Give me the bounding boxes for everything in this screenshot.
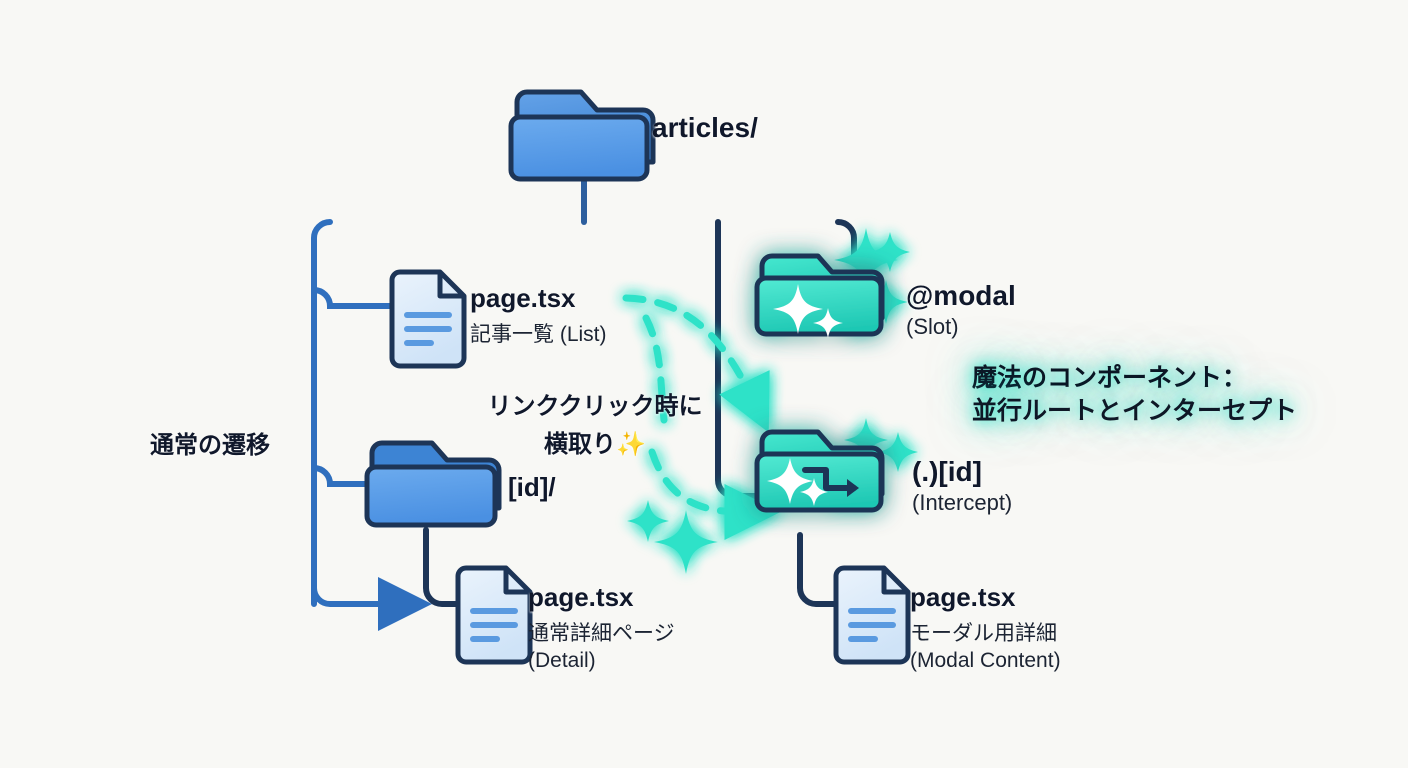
file-icon-list-page[interactable] (392, 272, 464, 366)
label-list-page-group: page.tsx 記事一覧 (List) (470, 283, 607, 348)
annotation-intercept-note-line2-wrap: 横取り✨ (480, 424, 710, 459)
label-id-folder: [id]/ (508, 472, 556, 503)
label-intercept-name: (.)[id] (912, 456, 1012, 488)
label-list-page-name: page.tsx (470, 283, 607, 314)
label-intercept-group: (.)[id] (Intercept) (912, 456, 1012, 516)
label-detail-page-sub1: 通常詳細ページ (528, 617, 675, 647)
annotation-normal-transition: 通常の遷移 (150, 425, 270, 460)
label-detail-page-name: page.tsx (528, 582, 675, 613)
file-icon-modal-page[interactable] (836, 568, 908, 662)
annotation-magic-group: 魔法のコンポーネント： 並行ルートとインターセプト (972, 362, 1297, 428)
sparkle-folder-icon-modal[interactable] (757, 256, 882, 338)
diagram-canvas: articles/ page.tsx 記事一覧 (List) [id]/ pag… (0, 0, 1408, 768)
annotation-magic-line1: 魔法のコンポーネント： (972, 362, 1297, 395)
sparkle-icon-emoji: ✨ (616, 431, 646, 458)
label-modal-page-name: page.tsx (910, 582, 1061, 613)
label-detail-page-sub2: (Detail) (528, 649, 675, 673)
annotation-intercept-note: リンククリック時に 横取り✨ (480, 386, 710, 459)
file-icon-detail-page[interactable] (458, 568, 530, 662)
label-detail-page-group: page.tsx 通常詳細ページ (Detail) (528, 582, 675, 673)
folder-icon-articles[interactable] (511, 92, 653, 179)
annotation-magic-line2: 並行ルートとインターセプト (972, 395, 1297, 428)
label-intercept-sub: (Intercept) (912, 490, 1012, 516)
label-modal-slot-group: @modal (Slot) (906, 280, 1016, 340)
annotation-intercept-note-line1: リンククリック時に (480, 386, 710, 421)
label-modal-slot-sub: (Slot) (906, 314, 1016, 340)
sparkle-folder-arrow-icon-intercept[interactable] (757, 432, 882, 510)
label-list-page-sub: 記事一覧 (List) (470, 318, 607, 348)
annotation-intercept-note-line2: 横取り (544, 431, 616, 458)
label-articles: articles/ (652, 112, 758, 144)
label-modal-page-group: page.tsx モーダル用詳細 (Modal Content) (910, 582, 1061, 673)
label-modal-slot-name: @modal (906, 280, 1016, 312)
label-modal-page-sub1: モーダル用詳細 (910, 617, 1061, 647)
label-modal-page-sub2: (Modal Content) (910, 649, 1061, 673)
